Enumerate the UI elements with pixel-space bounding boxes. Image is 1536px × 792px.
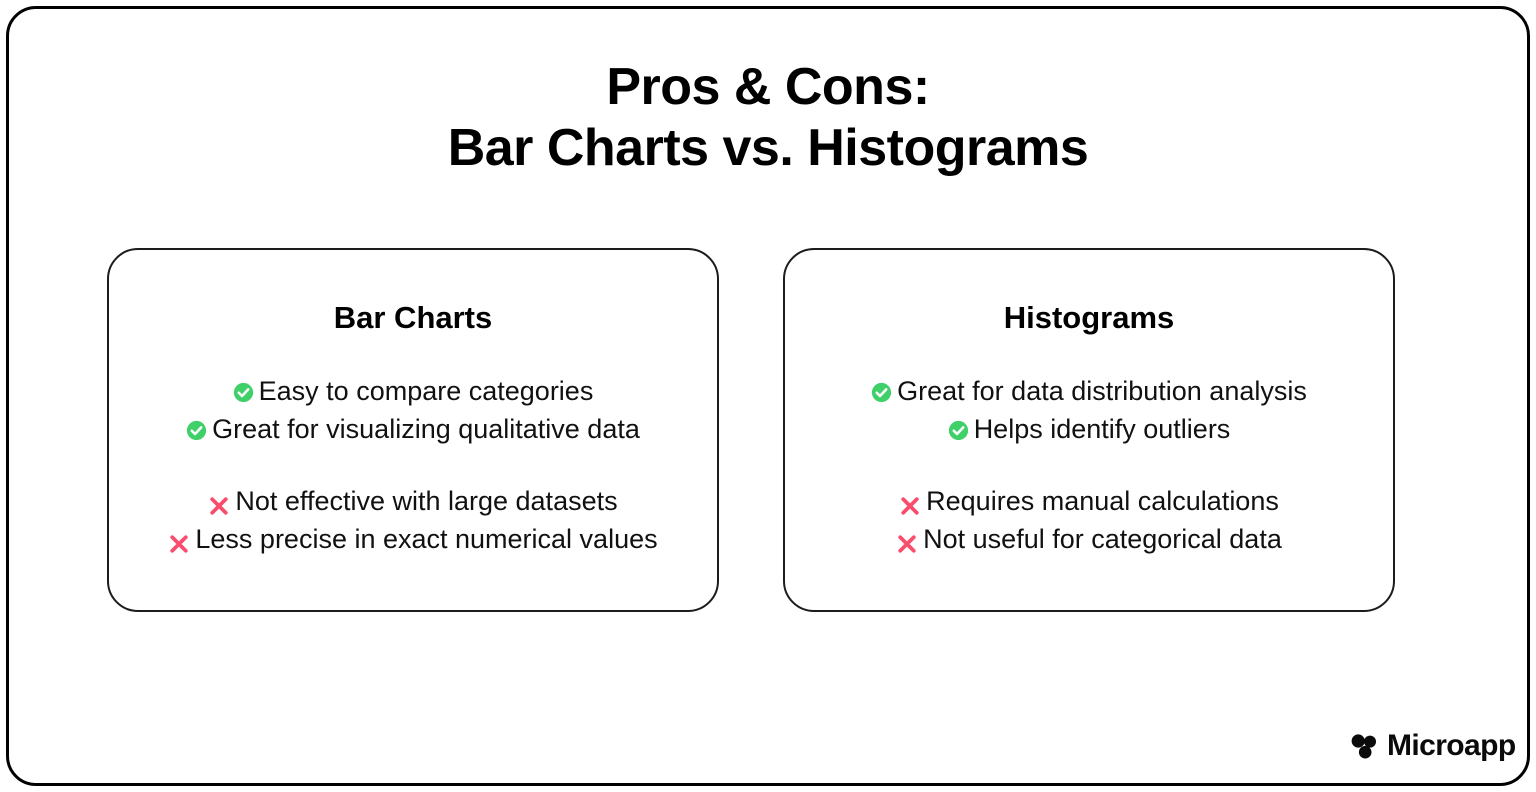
pro-item: Great for data distribution analysis: [803, 374, 1375, 412]
con-item: Not effective with large datasets: [127, 484, 699, 522]
page-title-line-1: Pros & Cons:: [0, 57, 1536, 118]
con-item: Requires manual calculations: [803, 484, 1375, 522]
check-circle-icon: [871, 377, 892, 412]
card-title-bar-charts: Bar Charts: [334, 300, 493, 336]
page-title-line-2: Bar Charts vs. Histograms: [0, 118, 1536, 179]
check-circle-icon: [233, 377, 254, 412]
cross-mark-icon: [899, 487, 921, 522]
cons-group-histograms: Requires manual calculations Not useful …: [803, 484, 1375, 560]
card-body-histograms: Great for data distribution analysis Hel…: [803, 374, 1375, 560]
cross-mark-icon: [208, 487, 230, 522]
con-item: Not useful for categorical data: [803, 522, 1375, 560]
check-circle-icon: [948, 415, 969, 450]
pro-item: Great for visualizing qualitative data: [127, 412, 699, 450]
cons-group-bar-charts: Not effective with large datasets Less p…: [127, 484, 699, 560]
con-item-label: Not useful for categorical data: [923, 524, 1282, 554]
con-item-label: Not effective with large datasets: [235, 486, 617, 516]
cross-mark-icon: [896, 525, 918, 560]
pro-item-label: Easy to compare categories: [259, 376, 594, 406]
pro-item: Easy to compare categories: [127, 374, 699, 412]
brand-name: Microapp: [1387, 730, 1516, 762]
card-histograms[interactable]: Histograms Great for data distribution a…: [783, 248, 1395, 612]
pros-group-histograms: Great for data distribution analysis Hel…: [803, 374, 1375, 450]
con-item: Less precise in exact numerical values: [127, 522, 699, 560]
cross-mark-icon: [168, 525, 190, 560]
page-title: Pros & Cons: Bar Charts vs. Histograms: [0, 57, 1536, 179]
pro-item-label: Great for visualizing qualitative data: [212, 414, 640, 444]
pro-item-label: Helps identify outliers: [974, 414, 1231, 444]
slide-canvas: Pros & Cons: Bar Charts vs. Histograms B…: [0, 0, 1536, 792]
con-item-label: Less precise in exact numerical values: [195, 524, 657, 554]
pro-item-label: Great for data distribution analysis: [897, 376, 1307, 406]
microapp-logo-icon: [1348, 730, 1380, 762]
card-title-histograms: Histograms: [1004, 300, 1175, 336]
check-circle-icon: [186, 415, 207, 450]
card-bar-charts[interactable]: Bar Charts Easy to compare categories: [107, 248, 719, 612]
pros-group-bar-charts: Easy to compare categories Great for vis…: [127, 374, 699, 450]
brand-logo: Microapp: [1348, 730, 1516, 762]
con-item-label: Requires manual calculations: [926, 486, 1279, 516]
pro-item: Helps identify outliers: [803, 412, 1375, 450]
card-body-bar-charts: Easy to compare categories Great for vis…: [127, 374, 699, 560]
